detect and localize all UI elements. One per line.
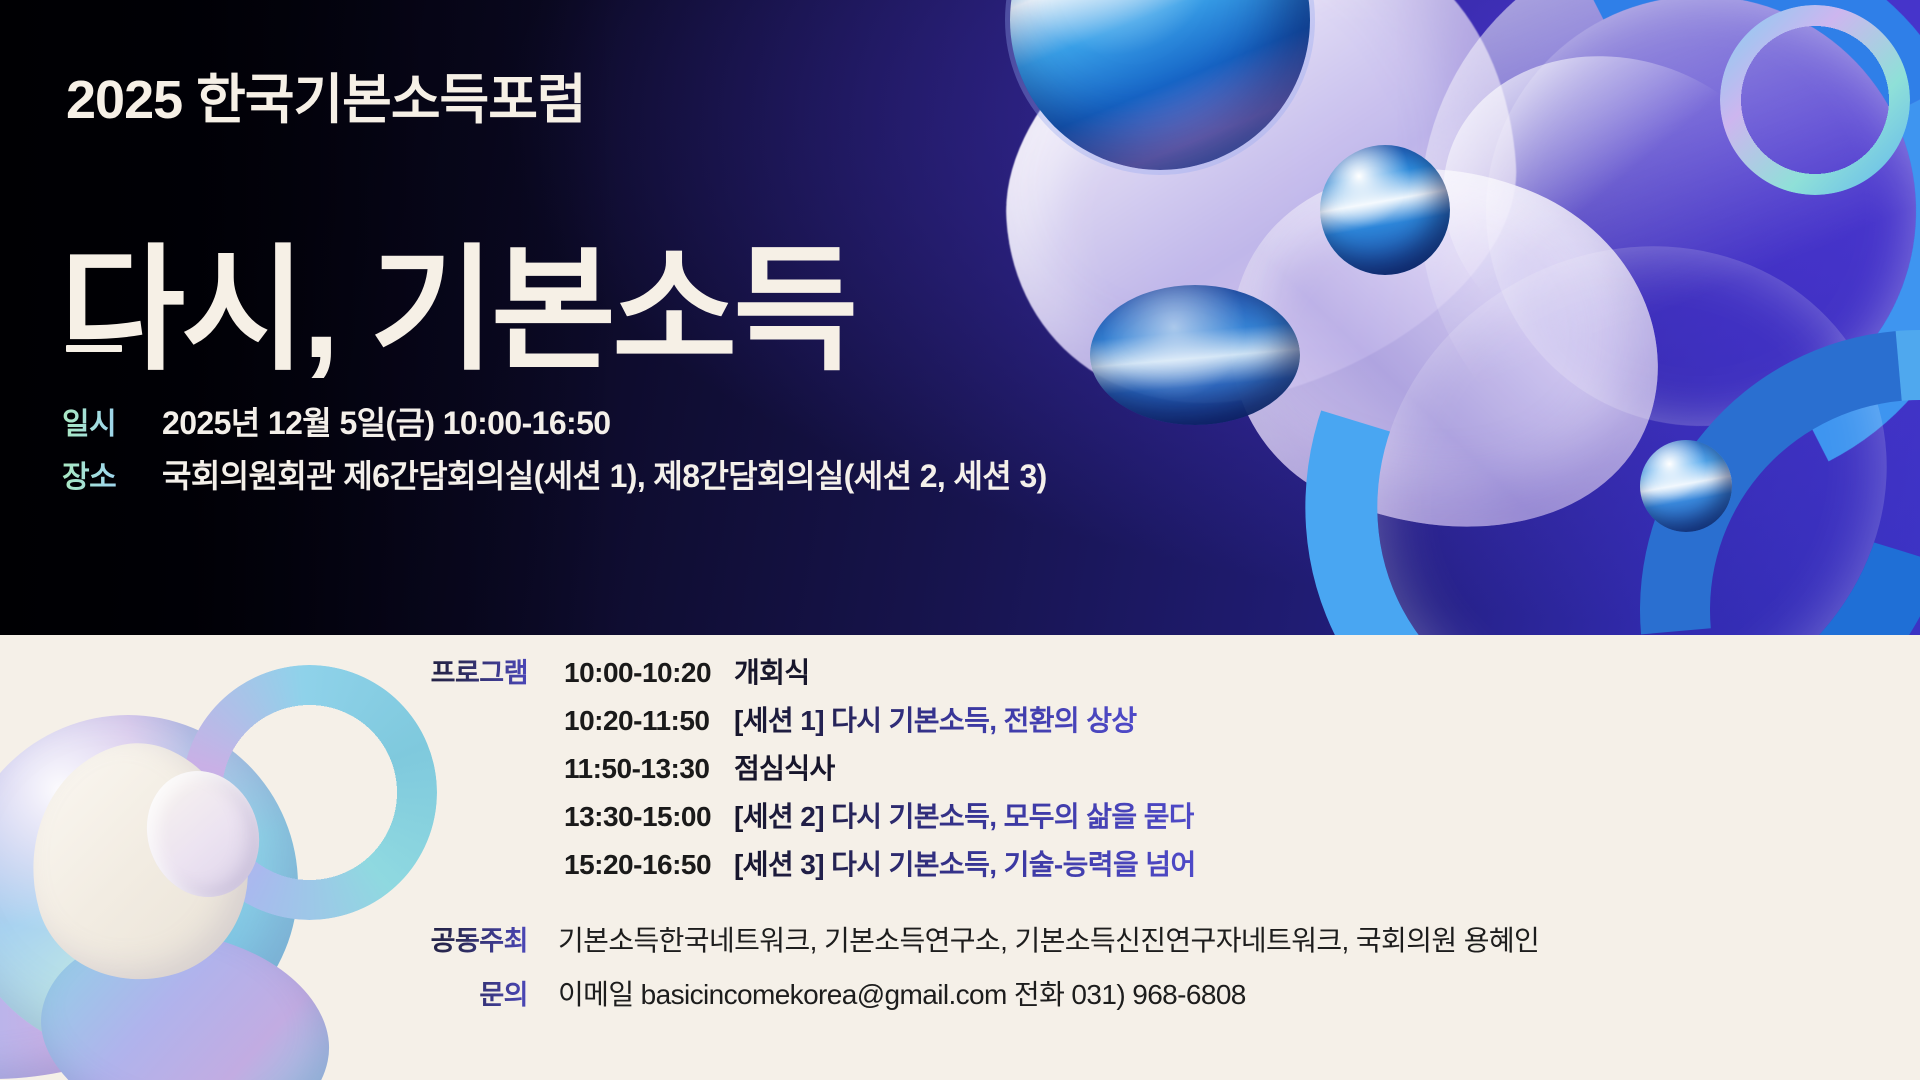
program-row-title: [세션 2] 다시 기본소득, 모두의 삶을 묻다 [734, 795, 1194, 835]
blue-tube-b-icon [1195, 60, 1920, 635]
program-row-title: 점심식사 [734, 747, 835, 787]
program-row-time: 15:20-16:50 [564, 849, 734, 881]
program-row: 15:20-16:50 [세션 3] 다시 기본소득, 기술-능력을 넘어 [400, 843, 1539, 891]
tube-highlight-icon [1400, 7, 1841, 412]
iridescent-ring-icon [1720, 5, 1910, 195]
white-ribbon-2-icon [1175, 98, 1714, 602]
info-label-date: 일시 [62, 399, 144, 443]
hosts-row: 공동주최 기본소득한국네트워크, 기본소득연구소, 기본소득신진연구자네트워크,… [400, 919, 1539, 959]
contact-row: 문의 이메일 basicincomekorea@gmail.com 전화 031… [400, 973, 1539, 1013]
info-value-venue: 국회의원회관 제6간담회의실(세션 1), 제8간담회의실(세션 2, 세션 3… [162, 451, 1047, 497]
blue-tube-c-icon [1526, 216, 1920, 635]
hosts-label: 공동주최 [400, 919, 528, 958]
blue-tube-a-icon [1347, 0, 1920, 565]
program-row-title: [세션 1] 다시 기본소득, 전환의 상상 [734, 699, 1137, 739]
poster-root: 2025 한국기본소득포럼 다시, 기본소득 일시 2025년 12월 5일(금… [0, 0, 1920, 1080]
contact-value: 이메일 basicincomekorea@gmail.com 전화 031) 9… [558, 973, 1246, 1013]
info-row-date: 일시 2025년 12월 5일(금) 10:00-16:50 [62, 398, 1047, 444]
glass-sphere-small-icon [1640, 440, 1732, 532]
program-row-title: 개회식 [734, 651, 809, 691]
program-row: 13:30-15:00 [세션 2] 다시 기본소득, 모두의 삶을 묻다 [400, 795, 1539, 843]
program-row-title: [세션 3] 다시 기본소득, 기술-능력을 넘어 [734, 843, 1196, 883]
glass-sphere-low-icon [1090, 285, 1300, 425]
program-row: 11:50-13:30 점심식사 [400, 747, 1539, 795]
info-value-date: 2025년 12월 5일(금) 10:00-16:50 [162, 398, 610, 444]
info-label-venue: 장소 [62, 452, 144, 496]
program-row-time: 13:30-15:00 [564, 801, 734, 833]
program-row-time: 10:20-11:50 [564, 705, 734, 737]
program-row: 프로그램 10:00-10:20 개회식 [400, 651, 1539, 699]
program-section: 프로그램 10:00-10:20 개회식 10:20-11:50 [세션 1] … [0, 635, 1920, 1080]
forum-kicker: 2025 한국기본소득포럼 [66, 55, 586, 134]
hosts-value: 기본소득한국네트워크, 기본소득연구소, 기본소득신진연구자네트워크, 국회의원… [558, 919, 1539, 959]
info-row-venue: 장소 국회의원회관 제6간담회의실(세션 1), 제8간담회의실(세션 2, 세… [62, 451, 1047, 497]
glass-sphere-mid-icon [1320, 145, 1450, 275]
page-title: 다시, 기본소득 [60, 239, 854, 382]
program-row: 10:20-11:50 [세션 1] 다시 기본소득, 전환의 상상 [400, 699, 1539, 747]
program-table: 프로그램 10:00-10:20 개회식 10:20-11:50 [세션 1] … [400, 651, 1539, 1013]
title-divider [66, 345, 122, 352]
contact-label: 문의 [400, 973, 528, 1012]
program-label: 프로그램 [400, 651, 528, 690]
program-row-time: 10:00-10:20 [564, 657, 734, 689]
glass-sphere-large-icon [1010, 0, 1310, 170]
hero-section: 2025 한국기본소득포럼 다시, 기본소득 일시 2025년 12월 5일(금… [0, 0, 1920, 635]
white-ribbon-icon [992, 0, 1527, 456]
event-info-block: 일시 2025년 12월 5일(금) 10:00-16:50 장소 국회의원회관… [62, 398, 1047, 504]
program-row-time: 11:50-13:30 [564, 753, 734, 785]
